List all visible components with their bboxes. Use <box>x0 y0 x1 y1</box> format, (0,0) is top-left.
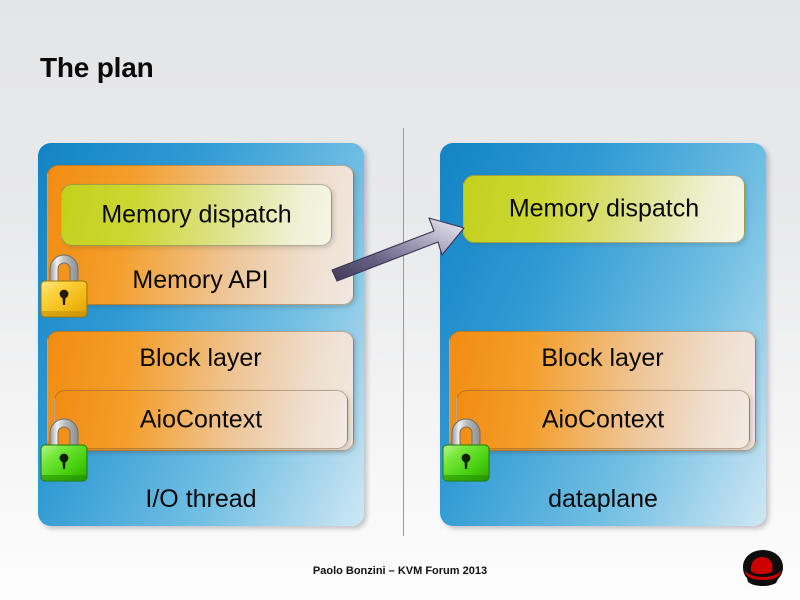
memory-lock-icon <box>37 249 91 321</box>
dataplane-label: dataplane <box>440 485 766 514</box>
aiocontext-label-right: AioContext <box>457 407 749 432</box>
page-title: The plan <box>40 52 154 84</box>
block-layer-label-right: Block layer <box>450 346 755 371</box>
panel-divider <box>403 128 404 536</box>
aiocontext-box-right: AioContext <box>456 390 750 449</box>
memory-dispatch-label-right: Memory dispatch <box>464 197 744 222</box>
memory-api-label: Memory API <box>48 268 353 293</box>
block-layer-group-left: Block layer AioContext <box>47 331 354 451</box>
migration-arrow <box>330 210 470 282</box>
red-hat-shadowman-logo <box>738 546 788 592</box>
memory-api-group: Memory dispatch Memory API <box>47 165 354 305</box>
block-lock-icon-left <box>37 413 91 485</box>
block-layer-label-left: Block layer <box>48 346 353 371</box>
slide-canvas: The plan Memory dispatch Memory API Bloc… <box>0 0 800 600</box>
aiocontext-label-left: AioContext <box>55 407 347 432</box>
memory-dispatch-box-right: Memory dispatch <box>463 175 745 243</box>
io-thread-label: I/O thread <box>38 485 364 514</box>
block-lock-icon-right <box>439 413 493 485</box>
footer-credit: Paolo Bonzini – KVM Forum 2013 <box>0 565 800 577</box>
memory-dispatch-label-left: Memory dispatch <box>62 203 331 228</box>
aiocontext-box-left: AioContext <box>54 390 348 449</box>
block-layer-group-right: Block layer AioContext <box>449 331 756 451</box>
memory-dispatch-box-left: Memory dispatch <box>61 184 332 246</box>
